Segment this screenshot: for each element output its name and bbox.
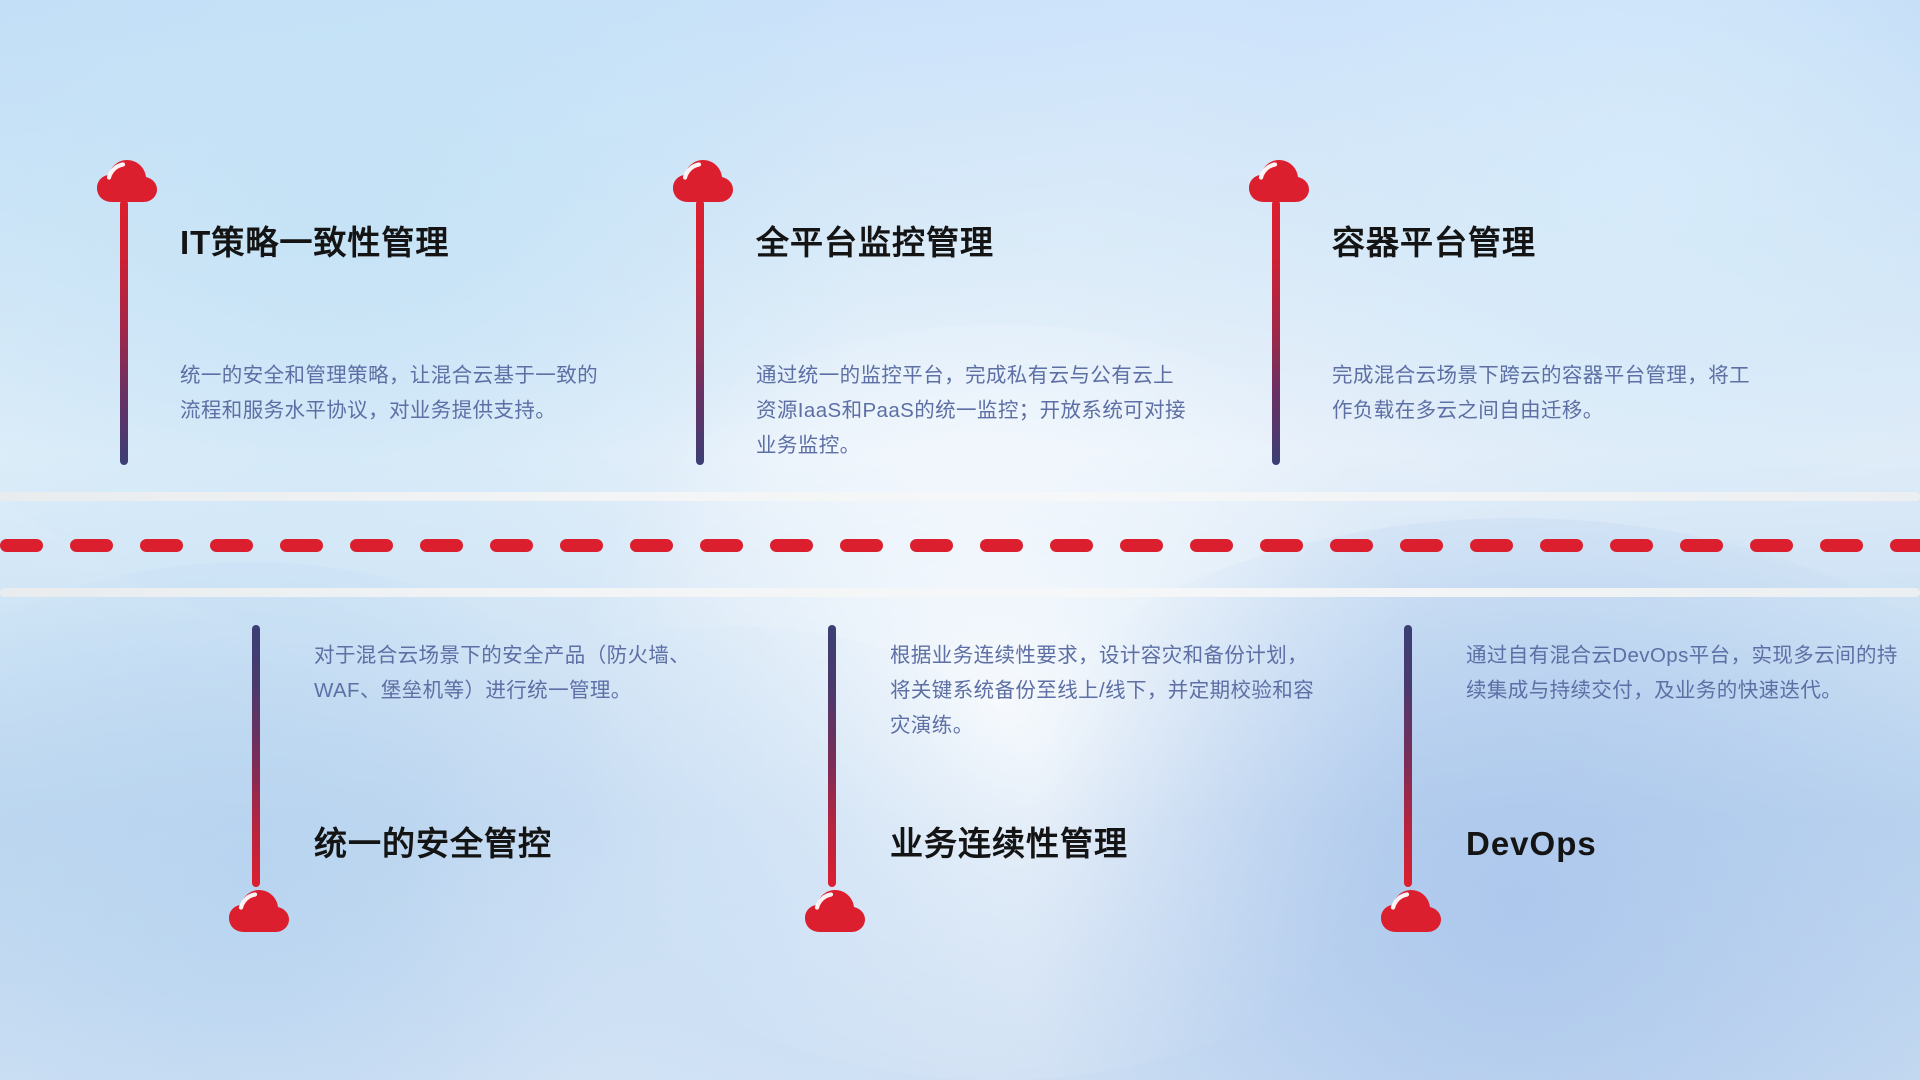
divider-dash: [350, 539, 393, 552]
divider-dash: [910, 539, 953, 552]
divider-dash: [70, 539, 113, 552]
divider-dash: [1120, 539, 1163, 552]
bottom-item-2-body: 根据业务连续性要求，设计容灾和备份计划，将关键系统备份至线上/线下，并定期校验和…: [890, 638, 1322, 743]
divider-dash: [280, 539, 323, 552]
pin-line: [828, 625, 836, 887]
top-item-1-body: 统一的安全和管理策略，让混合云基于一致的流程和服务水平协议，对业务提供支持。: [180, 358, 612, 428]
divider-dash: [1610, 539, 1653, 552]
bottom-item-1-body: 对于混合云场景下的安全产品（防火墙、WAF、堡垒机等）进行统一管理。: [314, 638, 746, 708]
top-item-2-body: 通过统一的监控平台，完成私有云与公有云上资源IaaS和PaaS的统一监控；开放系…: [756, 358, 1188, 463]
bottom-item-3-title: DevOps: [1466, 827, 1597, 860]
divider-dash: [630, 539, 673, 552]
pin-line: [696, 200, 704, 465]
divider-dash: [560, 539, 603, 552]
divider-dash: [420, 539, 463, 552]
pin-line: [1404, 625, 1412, 887]
top-item-1-title: IT策略一致性管理: [180, 226, 449, 259]
top-item-2-title: 全平台监控管理: [756, 226, 994, 259]
divider-dash: [1820, 539, 1863, 552]
bottom-item-3-body: 通过自有混合云DevOps平台，实现多云间的持续集成与持续交付，及业务的快速迭代…: [1466, 638, 1898, 708]
divider-dash: [840, 539, 883, 552]
cloud-icon: [1248, 158, 1310, 204]
bottom-item-2-title: 业务连续性管理: [890, 827, 1128, 860]
center-divider: [0, 490, 1920, 610]
divider-dash: [1400, 539, 1443, 552]
divider-dash: [770, 539, 813, 552]
divider-dash: [1190, 539, 1233, 552]
top-item-3-title: 容器平台管理: [1332, 226, 1536, 259]
divider-bar-top: [0, 492, 1920, 501]
cloud-icon: [672, 158, 734, 204]
divider-dash: [1470, 539, 1513, 552]
divider-dash: [1260, 539, 1303, 552]
cloud-icon: [804, 888, 866, 934]
divider-dash: [700, 539, 743, 552]
divider-bar-bottom: [0, 588, 1920, 597]
divider-dash: [980, 539, 1023, 552]
cloud-icon: [228, 888, 290, 934]
divider-dash: [210, 539, 253, 552]
divider-dash: [1330, 539, 1373, 552]
divider-dashed-line: [0, 538, 1920, 552]
divider-dash: [1680, 539, 1723, 552]
divider-dash: [0, 539, 43, 552]
pin-line: [1272, 200, 1280, 465]
pin-line: [252, 625, 260, 887]
divider-dash: [1540, 539, 1583, 552]
cloud-icon: [1380, 888, 1442, 934]
divider-dash: [140, 539, 183, 552]
bottom-item-1-title: 统一的安全管控: [314, 827, 552, 860]
divider-dash: [1050, 539, 1093, 552]
top-item-3-body: 完成混合云场景下跨云的容器平台管理，将工作负载在多云之间自由迁移。: [1332, 358, 1764, 428]
divider-dash: [490, 539, 533, 552]
divider-dash: [1890, 539, 1920, 552]
divider-dash: [1750, 539, 1793, 552]
pin-line: [120, 200, 128, 465]
cloud-icon: [96, 158, 158, 204]
